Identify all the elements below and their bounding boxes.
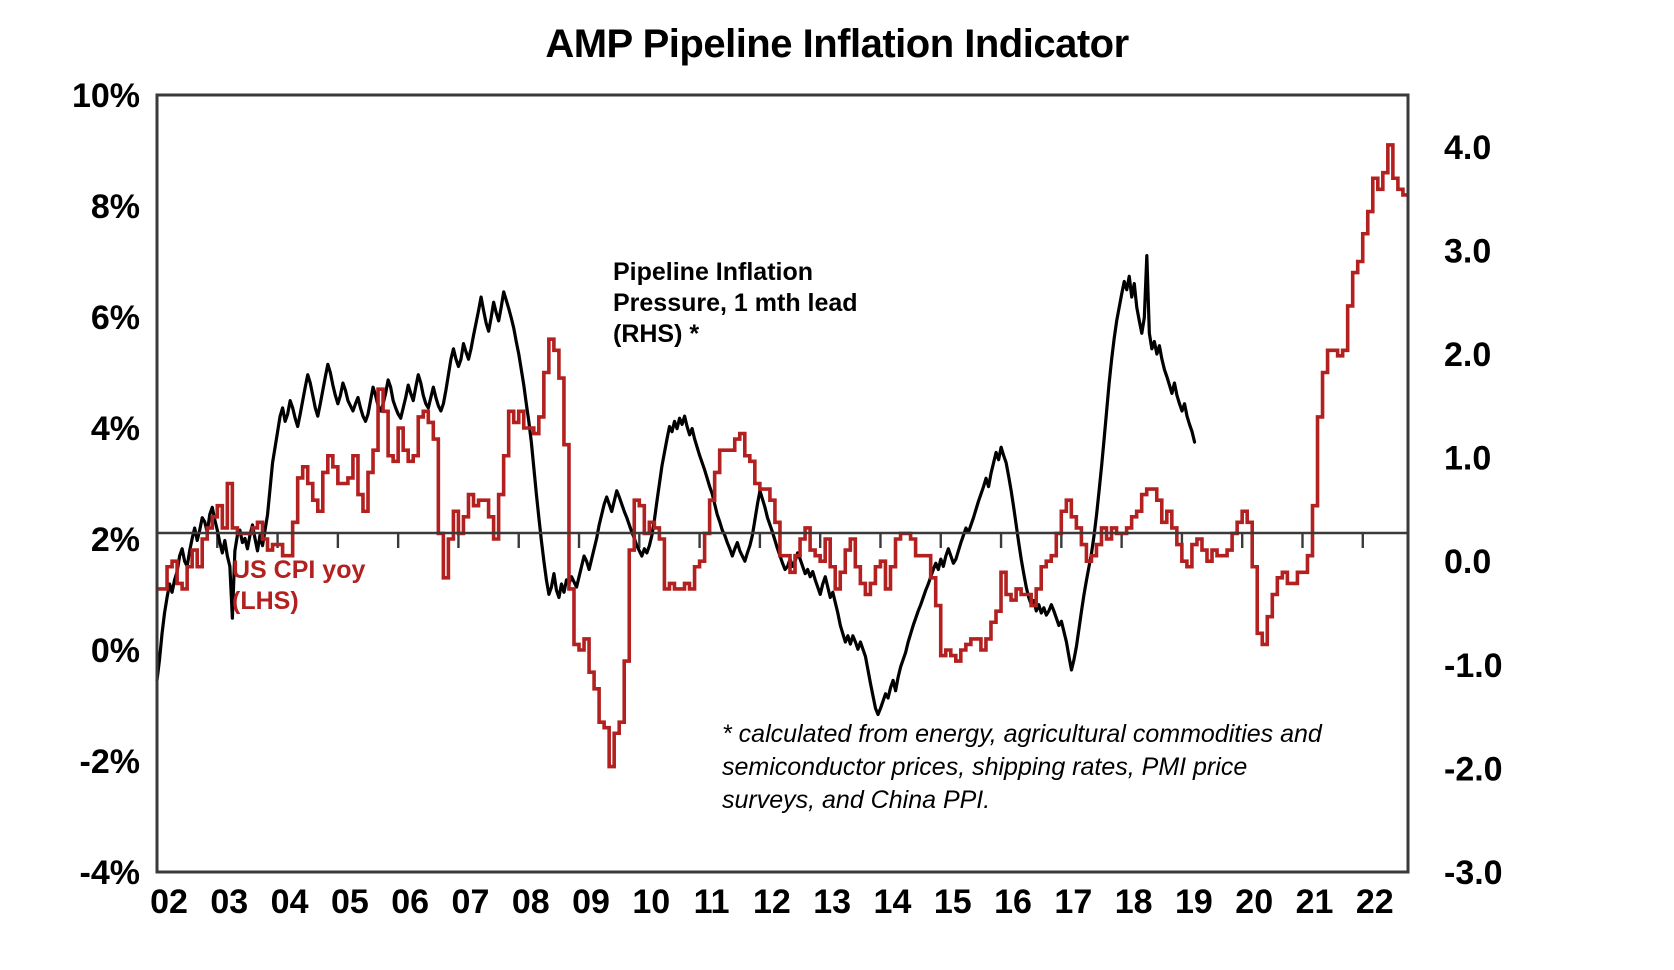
y-left-tick-label: -4% <box>80 854 140 892</box>
x-tick-label: 06 <box>391 883 429 921</box>
x-tick-label: 20 <box>1235 883 1273 921</box>
x-tick-label: 22 <box>1356 883 1394 921</box>
black-label-line-2: Pressure, 1 mth lead <box>613 289 858 317</box>
x-tick-label: 10 <box>632 883 670 921</box>
footnote-line-3: surveys, and China PPI. <box>722 786 990 814</box>
x-tick-label: 09 <box>572 883 610 921</box>
x-tick-label: 19 <box>1175 883 1213 921</box>
x-tick-label: 18 <box>1115 883 1153 921</box>
y-right-tick-label: 3.0 <box>1444 232 1491 270</box>
y-left-tick-label: 8% <box>91 188 140 226</box>
footnote-line-1: * calculated from energy, agricultural c… <box>722 720 1323 748</box>
red-label-line-2: (LHS) <box>232 587 299 615</box>
x-tick-label: 12 <box>753 883 791 921</box>
y-left-tick-label: 2% <box>91 521 140 559</box>
y-right-tick-label: 4.0 <box>1444 129 1491 167</box>
y-right-tick-label: -2.0 <box>1444 750 1503 788</box>
red-series-label: US CPI yoy (LHS) <box>232 556 365 615</box>
y-right-tick-label: -3.0 <box>1444 854 1503 892</box>
x-tick-label: 16 <box>994 883 1032 921</box>
x-tick-label: 02 <box>150 883 188 921</box>
footnote: * calculated from energy, agricultural c… <box>722 720 1323 814</box>
y-left-tick-label: 0% <box>91 632 140 670</box>
x-tick-label: 14 <box>874 883 912 921</box>
y-left-tick-label: 4% <box>91 410 140 448</box>
y-right-tick-label: -1.0 <box>1444 647 1503 685</box>
black-series-label: Pipeline Inflation Pressure, 1 mth lead … <box>613 258 858 348</box>
chart-figure: AMP Pipeline Inflation Indicator 10%8%6%… <box>0 0 1674 970</box>
series-layer <box>157 145 1408 767</box>
x-tick-label: 03 <box>210 883 248 921</box>
y-left-tick-label: -2% <box>80 743 140 781</box>
x-tick-label: 07 <box>452 883 490 921</box>
y-right-tick-label: 0.0 <box>1444 543 1491 581</box>
y-left-tick-label: 6% <box>91 299 140 337</box>
black-label-line-3: (RHS) * <box>613 320 699 348</box>
x-tick-label: 08 <box>512 883 550 921</box>
y-axis-left: 10%8%6%4%2%0%-2%-4% <box>72 77 140 892</box>
x-tick-label: 17 <box>1054 883 1092 921</box>
y-right-tick-label: 1.0 <box>1444 440 1491 478</box>
chart-svg: 10%8%6%4%2%0%-2%-4% 4.03.02.01.00.0-1.0-… <box>0 0 1674 970</box>
y-left-tick-label: 10% <box>72 77 140 115</box>
black-label-line-1: Pipeline Inflation <box>613 258 813 286</box>
x-tick-label: 21 <box>1296 883 1334 921</box>
y-axis-right: 4.03.02.01.00.0-1.0-2.0-3.0 <box>1444 129 1503 892</box>
x-tick-label: 11 <box>694 883 730 921</box>
red-label-line-1: US CPI yoy <box>232 556 365 584</box>
x-tick-label: 04 <box>271 883 309 921</box>
x-tick-label: 05 <box>331 883 369 921</box>
series-line-us-cpi-yoy <box>157 145 1408 767</box>
x-tick-label: 13 <box>813 883 851 921</box>
footnote-line-2: semiconductor prices, shipping rates, PM… <box>722 753 1247 781</box>
x-tick-label: 15 <box>934 883 972 921</box>
y-right-tick-label: 2.0 <box>1444 336 1491 374</box>
